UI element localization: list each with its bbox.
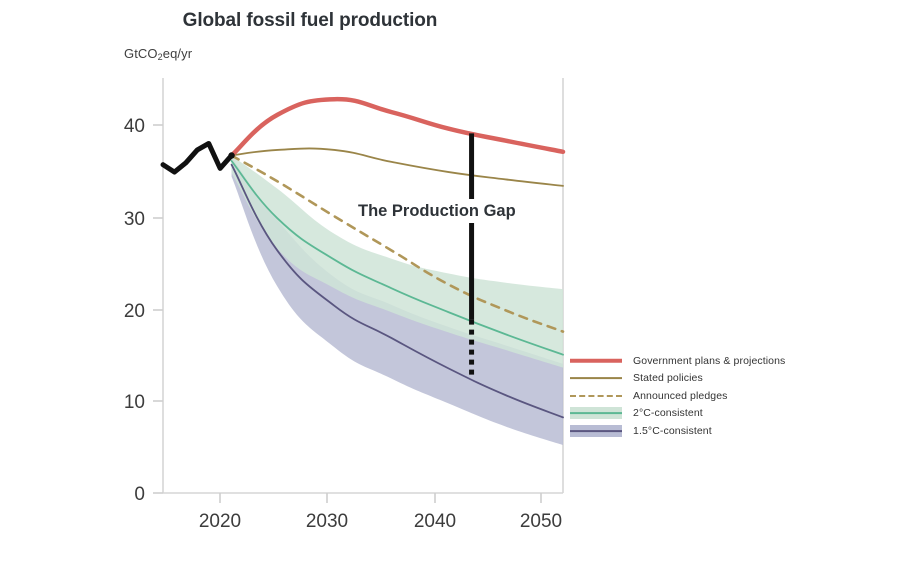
legend-label-1p5c-consistent: 1.5°C-consistent: [633, 425, 712, 437]
chart-plot-area: 40 30 20 10 0 2020 2030 2040 2050 The Pr…: [0, 0, 900, 574]
legend-swatch-stated-policies: [570, 371, 622, 385]
y-tick-label-30: 30: [124, 209, 145, 230]
legend-item-government-plans[interactable]: Government plans & projections: [570, 352, 890, 370]
x-tick-label-2040: 2040: [414, 511, 456, 532]
legend-label-announced-pledges: Announced pledges: [633, 390, 728, 402]
legend-label-2c-consistent: 2°C-consistent: [633, 407, 703, 419]
legend-item-2c-consistent[interactable]: 2°C-consistent: [570, 405, 890, 423]
x-tick-label-2030: 2030: [306, 511, 348, 532]
x-axis-ticks: 2020 2030 2040 2050: [199, 493, 562, 532]
legend-item-announced-pledges[interactable]: Announced pledges: [570, 387, 890, 405]
x-tick-label-2020: 2020: [199, 511, 241, 532]
y-tick-label-0: 0: [134, 484, 145, 505]
legend-label-government-plans: Government plans & projections: [633, 355, 785, 367]
y-axis-ticks: 40 30 20 10 0: [124, 116, 163, 505]
legend-swatch-2c-consistent: [570, 406, 622, 420]
legend-swatch-government-plans: [570, 354, 622, 368]
historical-endpoint-marker: [228, 152, 234, 158]
y-tick-label-10: 10: [124, 392, 145, 413]
y-tick-label-20: 20: [124, 301, 145, 322]
legend-swatch-announced-pledges: [570, 389, 622, 403]
chart-legend: Government plans & projections Stated po…: [570, 352, 890, 440]
legend-item-stated-policies[interactable]: Stated policies: [570, 370, 890, 388]
series-line-historical: [163, 143, 232, 172]
series-line-stated-policies: [232, 148, 563, 185]
chart-figure: Global fossil fuel production GtCO2eq/yr…: [0, 0, 900, 574]
x-tick-label-2050: 2050: [520, 511, 562, 532]
production-gap-label: The Production Gap: [358, 202, 516, 220]
legend-label-stated-policies: Stated policies: [633, 372, 703, 384]
y-tick-label-40: 40: [124, 116, 145, 137]
legend-swatch-1p5c-consistent: [570, 424, 622, 438]
series-line-government-plans: [232, 99, 563, 155]
legend-item-1p5c-consistent[interactable]: 1.5°C-consistent: [570, 422, 890, 440]
